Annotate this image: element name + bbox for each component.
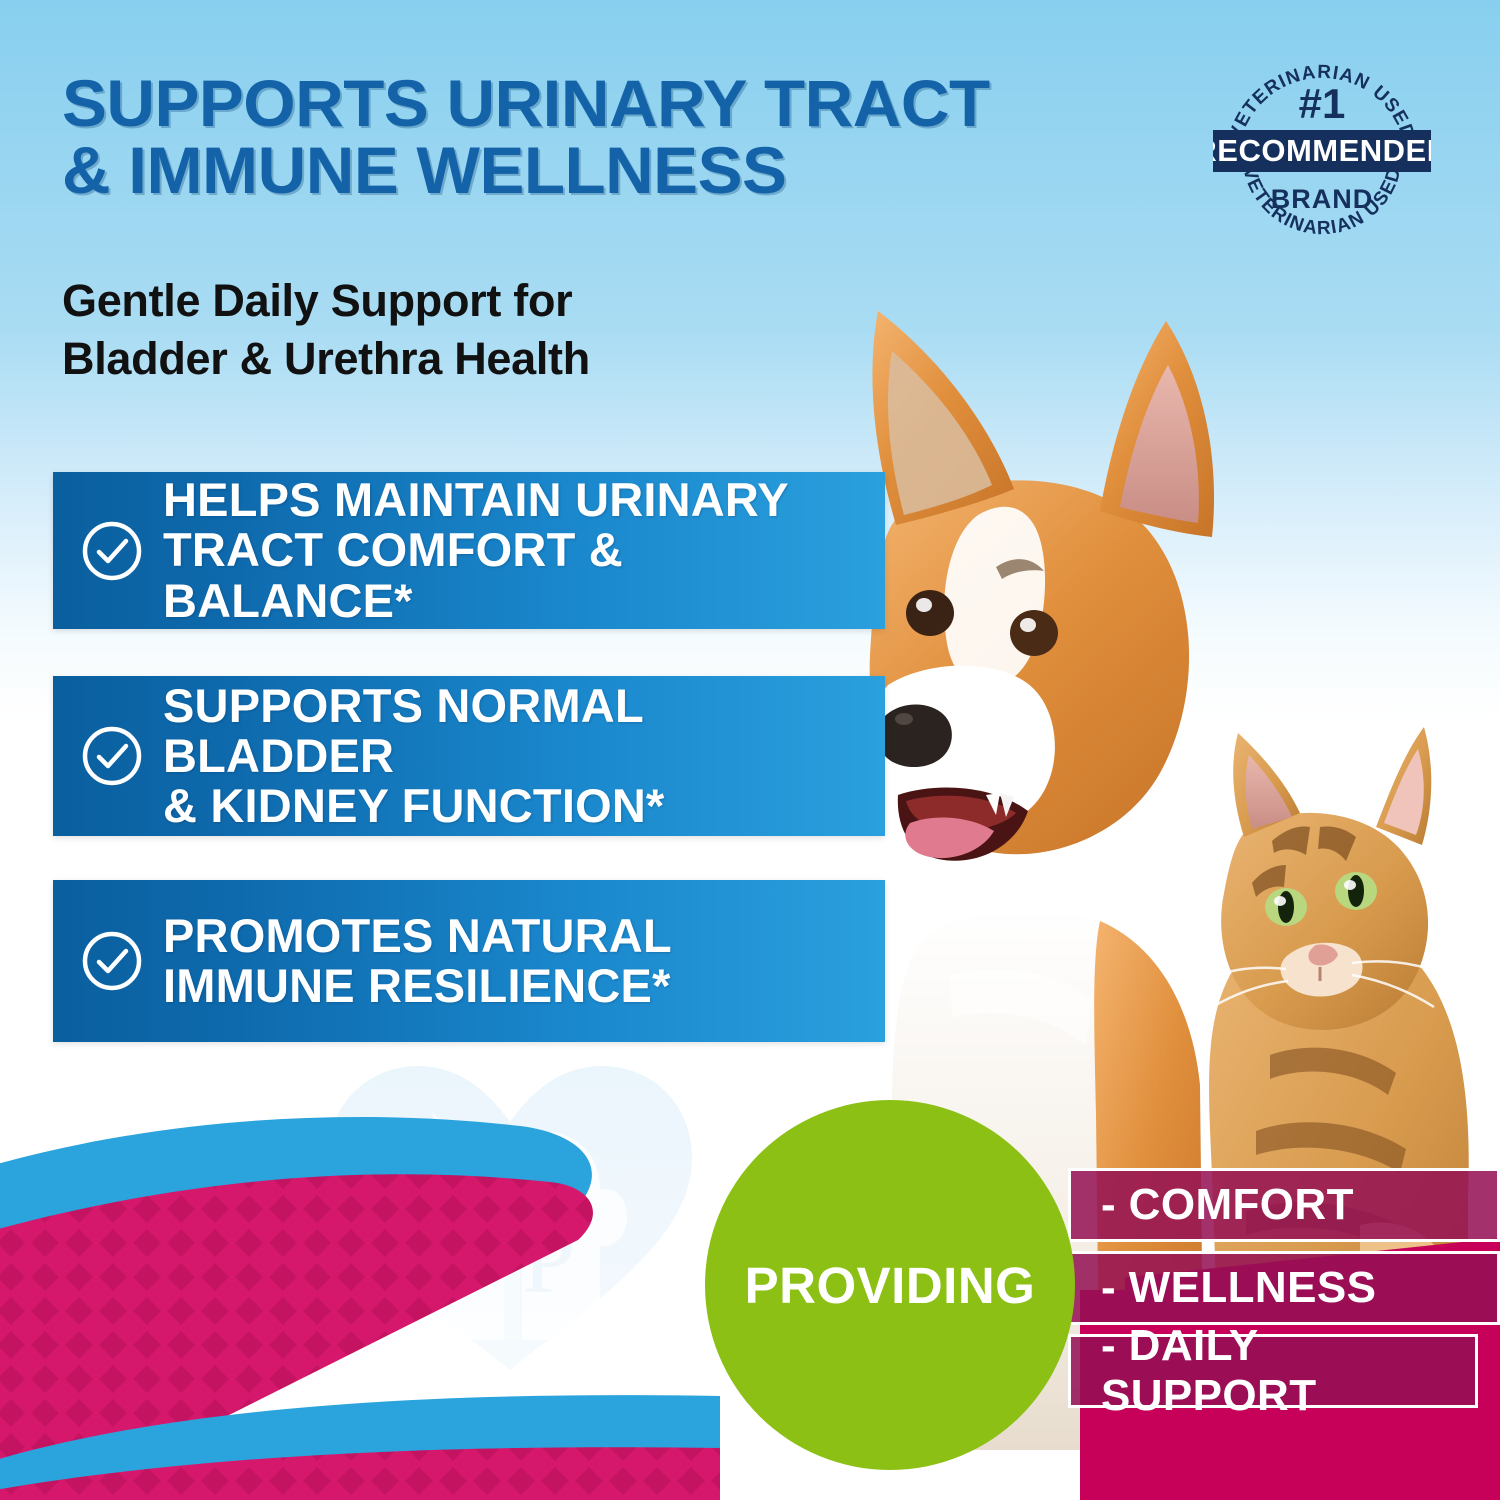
benefit-text-1: HELPS MAINTAIN URINARY TRACT COMFORT & B… — [163, 475, 885, 626]
badge-rank-text: #1 — [1299, 80, 1346, 127]
claim-label: - WELLNESS — [1101, 1263, 1376, 1313]
benefit-1-line-2: TRACT COMFORT & BALANCE* — [163, 525, 885, 626]
benefit-text-2: SUPPORTS NORMAL BLADDER & KIDNEY FUNCTIO… — [163, 681, 885, 832]
providing-label: PROVIDING — [745, 1256, 1036, 1315]
benefit-1-line-1: HELPS MAINTAIN URINARY — [163, 473, 789, 526]
badge-sub-text: BRAND — [1271, 184, 1374, 214]
subhead-line-2: Bladder & Urethra Health — [62, 330, 822, 388]
benefit-bar-3: PROMOTES NATURAL IMMUNE RESILIENCE* — [53, 880, 885, 1042]
circle-check-icon — [77, 516, 147, 586]
benefit-text-3: PROMOTES NATURAL IMMUNE RESILIENCE* — [163, 911, 672, 1012]
subhead-line-1: Gentle Daily Support for — [62, 275, 572, 326]
benefit-3-line-2: IMMUNE RESILIENCE* — [163, 961, 672, 1011]
badge-banner-text: RECOMMENDED — [1213, 133, 1431, 168]
claims-list: - COMFORT - WELLNESS - DAILY SUPPORT — [1068, 1168, 1500, 1417]
page-title: SUPPORTS URINARY TRACT & IMMUNE WELLNESS — [62, 70, 1041, 205]
claim-label: - COMFORT — [1101, 1180, 1354, 1230]
vet-recommended-badge: VETERINARIAN USED VETERINARIAN USED #1 R… — [1213, 42, 1431, 260]
claim-item-wellness: - WELLNESS — [1068, 1251, 1500, 1325]
claim-item-comfort: - COMFORT — [1068, 1168, 1500, 1242]
circle-check-icon — [77, 721, 147, 791]
headline-line-1: SUPPORTS URINARY TRACT — [62, 66, 990, 140]
claim-item-daily-support: - DAILY SUPPORT — [1068, 1334, 1478, 1408]
providing-badge: PROVIDING — [705, 1100, 1075, 1470]
product-infographic: R P — [0, 0, 1500, 1500]
benefit-3-line-1: PROMOTES NATURAL — [163, 909, 672, 962]
page-subtitle: Gentle Daily Support for Bladder & Ureth… — [62, 272, 822, 387]
benefit-bar-1: HELPS MAINTAIN URINARY TRACT COMFORT & B… — [53, 472, 885, 629]
benefit-bar-2: SUPPORTS NORMAL BLADDER & KIDNEY FUNCTIO… — [53, 676, 885, 836]
circle-check-icon — [77, 926, 147, 996]
decorative-swoosh — [0, 1090, 720, 1500]
headline-line-2: & IMMUNE WELLNESS — [62, 137, 1041, 204]
benefit-2-line-2: & KIDNEY FUNCTION* — [163, 781, 885, 831]
claim-label: - DAILY SUPPORT — [1101, 1321, 1475, 1421]
benefit-2-line-1: SUPPORTS NORMAL BLADDER — [163, 679, 643, 782]
